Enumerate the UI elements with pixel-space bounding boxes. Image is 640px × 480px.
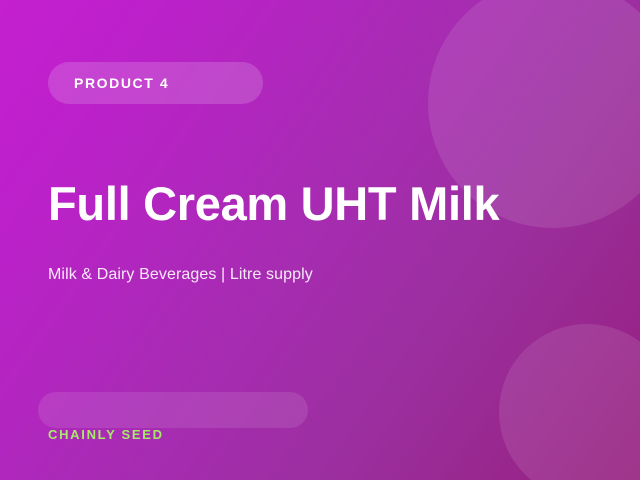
page-subtitle: Milk & Dairy Beverages | Litre supply	[48, 266, 313, 284]
footer-pill-background	[38, 392, 308, 428]
presentation-slide: PRODUCT 4 Full Cream UHT Milk Milk & Dai…	[0, 0, 640, 480]
brand-label: CHAINLY SEED	[48, 427, 164, 442]
decorative-circle-bottom-right	[499, 324, 640, 480]
page-title: Full Cream UHT Milk	[48, 176, 593, 231]
product-badge-label: PRODUCT 4	[74, 75, 169, 91]
product-badge: PRODUCT 4	[48, 62, 263, 104]
